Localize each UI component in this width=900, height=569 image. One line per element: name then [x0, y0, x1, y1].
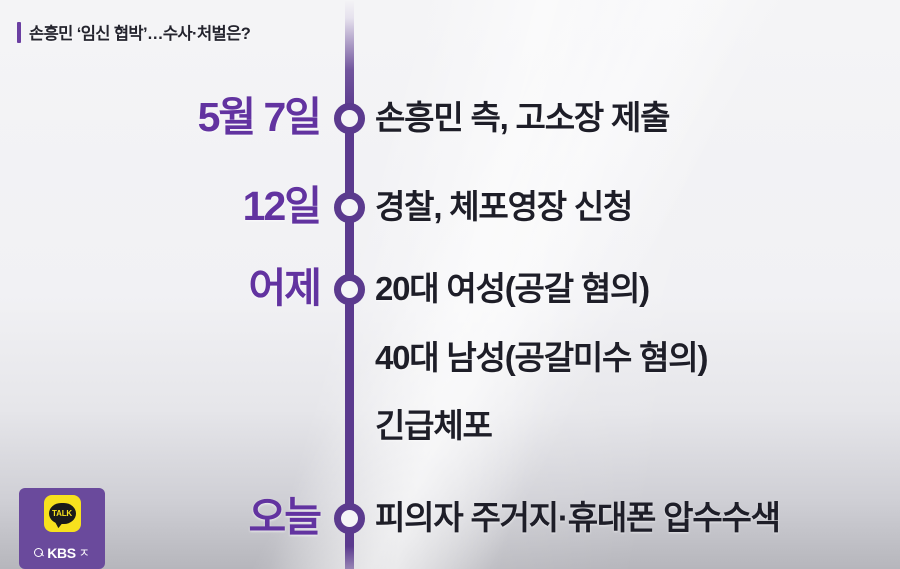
timeline-node-icon	[334, 103, 365, 134]
timeline-node-icon	[334, 274, 365, 305]
kakaotalk-tile: TALK	[44, 495, 81, 532]
timeline-date: 어제	[249, 268, 320, 309]
timeline-description: 긴급체포	[375, 409, 492, 442]
broadcast-graphic-screen: 손흥민 ‘임신 협박’…수사·처벌은? 5월 7일 손흥민 측, 고소장 제출 …	[0, 0, 900, 569]
timeline-description: 경찰, 체포영장 신청	[375, 190, 632, 223]
timeline-description: 손흥민 측, 고소장 제출	[375, 101, 669, 134]
headline: 손흥민 ‘임신 협박’…수사·처벌은?	[17, 20, 250, 44]
kbs-kakaotalk-badge[interactable]: TALK KBS ㅈ	[19, 488, 105, 569]
search-icon	[34, 548, 44, 558]
headline-accent-bar	[17, 22, 21, 43]
timeline-description: 피의자 주거지·휴대폰 압수수색	[375, 501, 780, 534]
kakaotalk-label: TALK	[52, 510, 72, 518]
timeline-date: 5월 7일	[198, 97, 320, 138]
kbs-brand-label: KBS	[47, 545, 75, 561]
headline-text: 손흥민 ‘임신 협박’…수사·처벌은?	[29, 20, 250, 44]
timeline-date: 오늘	[249, 497, 320, 538]
kbs-search-row: KBS ㅈ	[34, 544, 89, 561]
timeline-node-icon	[334, 503, 365, 534]
kakaotalk-speech-bubble-icon: TALK	[49, 503, 76, 524]
kbs-suffix-label: ㅈ	[79, 544, 90, 561]
timeline-description: 40대 남성(공갈미수 혐의)	[375, 341, 707, 374]
timeline-date: 12일	[243, 186, 320, 227]
timeline-node-icon	[334, 192, 365, 223]
timeline-description: 20대 여성(공갈 혐의)	[375, 272, 649, 305]
